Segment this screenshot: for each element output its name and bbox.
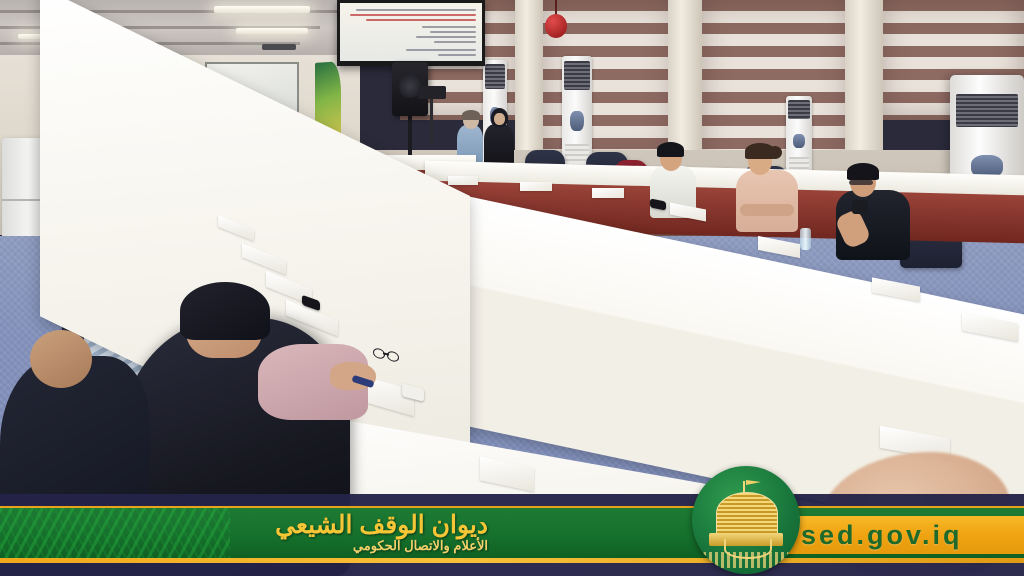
banner-ornament-pattern — [0, 508, 230, 562]
paper — [520, 182, 552, 191]
red-ornament — [545, 14, 567, 38]
camera-icon — [418, 86, 446, 99]
shia-endowment-logo-icon — [692, 466, 800, 574]
paper — [592, 188, 624, 198]
branding-banner: ديوان الوقف الشيعي الأعلام والاتصال الحك… — [0, 494, 1024, 576]
website-url-bar[interactable]: sed.gov.iq — [775, 516, 1024, 554]
banner-bottom-edge — [0, 563, 1024, 576]
projector-screen — [337, 0, 485, 66]
water-bottle — [800, 228, 811, 250]
wall-pillar — [845, 0, 883, 175]
org-title-arabic: ديوان الوقف الشيعي — [275, 510, 488, 540]
screenshot-root: ديوان الوقف الشيعي الأعلام والاتصال الحك… — [0, 0, 1024, 576]
banner-top-edge — [0, 494, 1024, 506]
website-url: sed.gov.iq — [801, 520, 963, 551]
speaker-pole — [408, 116, 412, 160]
camera-tripod — [430, 96, 433, 144]
org-subtitle-arabic: الأعلام والاتصال الحكومي — [353, 538, 488, 554]
paper — [448, 176, 478, 185]
conference-room-photo — [0, 0, 1024, 576]
